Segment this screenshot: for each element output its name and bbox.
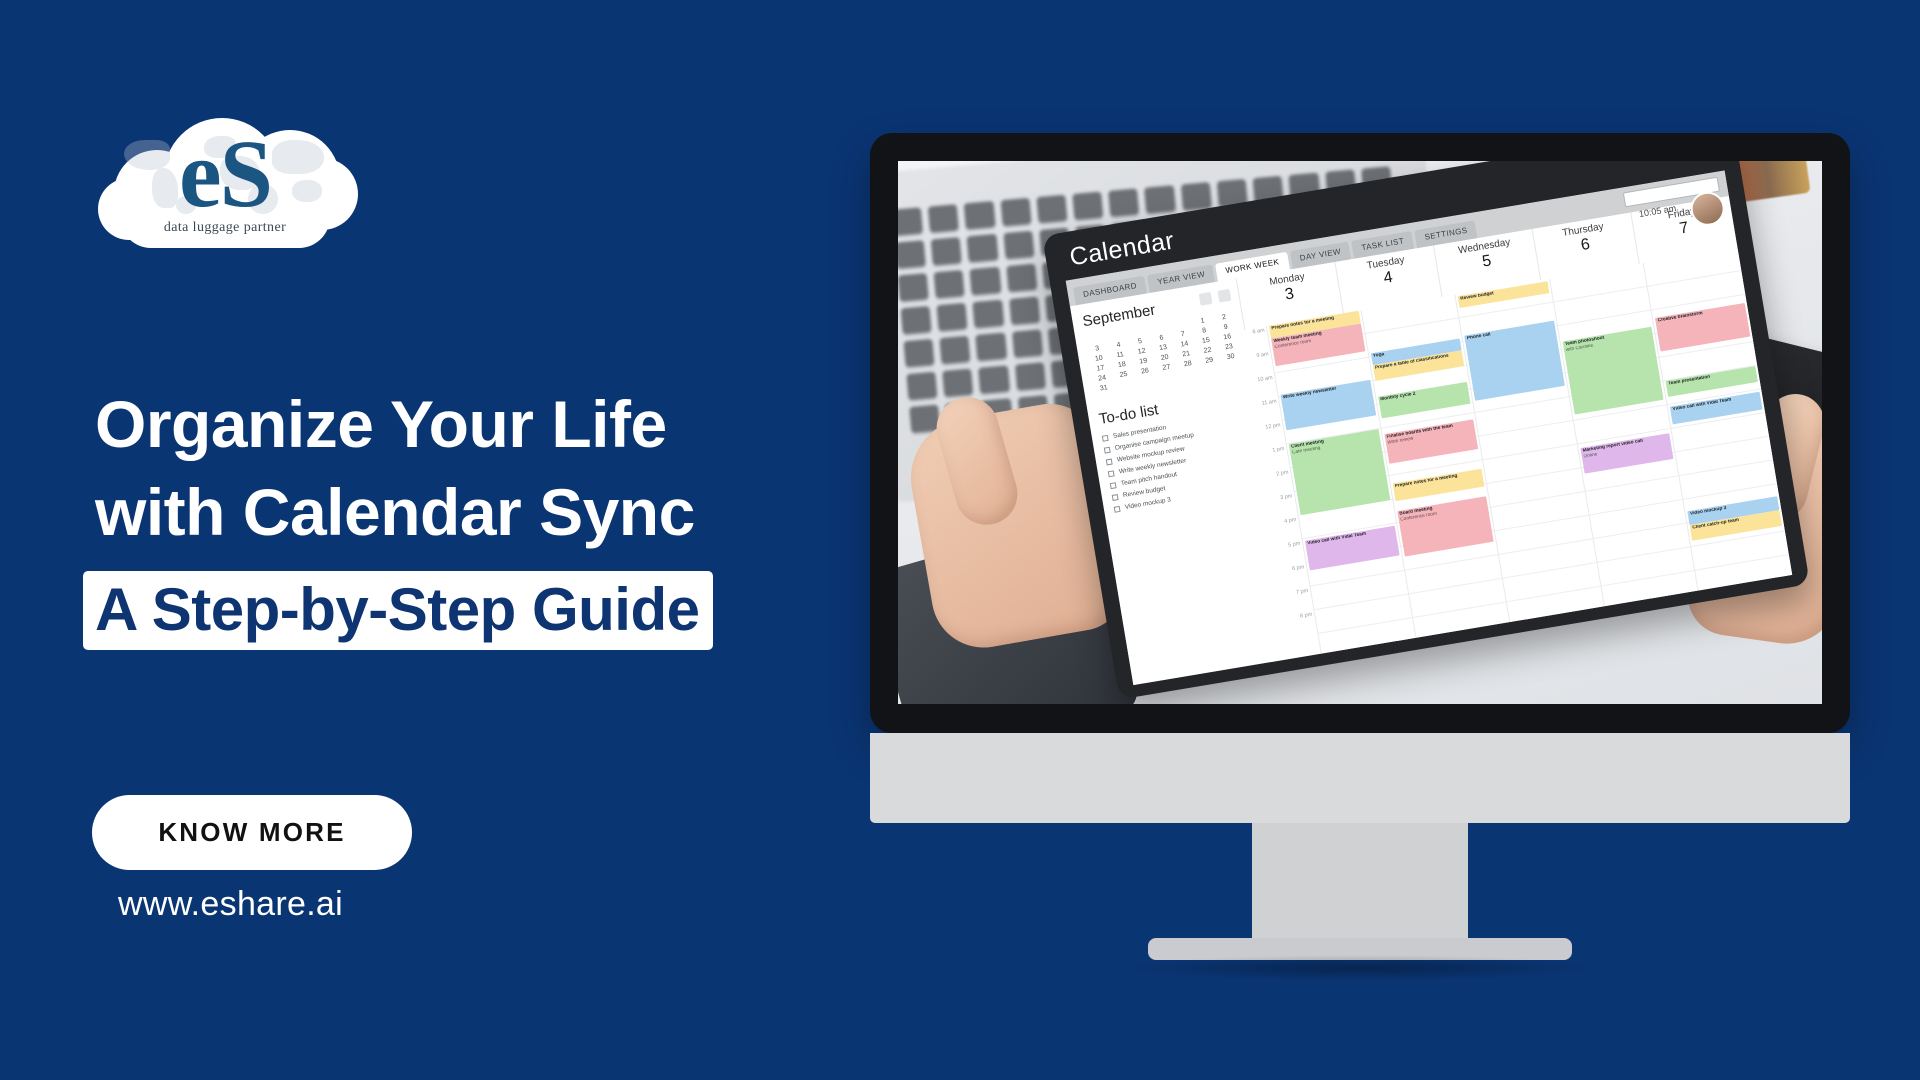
monitor-shadow: [1120, 955, 1600, 981]
mini-calendar-day[interactable]: 2: [1214, 312, 1235, 322]
mini-calendar-day: [1115, 380, 1136, 390]
headline-line-1: Organize Your Life: [95, 380, 815, 468]
desktop-monitor: Calendar DASHBOARDYEAR VIEWWORK WEEKDAY …: [870, 133, 1850, 923]
mini-calendar-day[interactable]: 30: [1220, 352, 1241, 362]
keyboard-key: [978, 365, 1009, 393]
know-more-button[interactable]: KNOW MORE: [92, 795, 412, 870]
todo-list[interactable]: Sales presentationOrganise campaign meet…: [1102, 410, 1263, 513]
keyboard-key: [976, 332, 1007, 360]
keyboard-key: [967, 234, 998, 262]
todo-label: Video mockup 3: [1124, 496, 1171, 511]
mini-calendar-day[interactable]: 1: [1192, 316, 1213, 326]
event-title: Team presentation: [1668, 367, 1754, 387]
todo-checkbox[interactable]: [1102, 434, 1109, 441]
keyboard-key: [1003, 231, 1034, 259]
mini-calendar-day[interactable]: 17: [1090, 364, 1111, 374]
mini-calendar-day[interactable]: 31: [1094, 383, 1115, 393]
todo-label: Review budget: [1122, 485, 1166, 499]
calendar-event[interactable]: Write weekly newsletter: [1280, 380, 1375, 430]
todo-checkbox[interactable]: [1104, 446, 1111, 453]
headline-highlight-text: A Step-by-Step Guide: [95, 579, 699, 640]
mini-calendar-month: September: [1081, 301, 1156, 330]
mini-calendar-day[interactable]: 14: [1174, 339, 1195, 349]
keyboard-key: [934, 270, 965, 298]
calendar-event[interactable]: Finalise boards with the teamWork review: [1384, 419, 1478, 464]
calendar-event[interactable]: Video call with Vidal Team: [1305, 526, 1399, 571]
keyboard-key: [1012, 329, 1043, 357]
mini-calendar-day[interactable]: 25: [1113, 370, 1134, 380]
mini-calendar-day[interactable]: 21: [1176, 349, 1197, 359]
keyboard-key: [939, 336, 970, 364]
keyboard-key: [1108, 188, 1139, 216]
event-title: Creative brainstorm: [1657, 304, 1743, 324]
keyboard-key: [903, 339, 934, 367]
mini-calendar-day[interactable]: 4: [1108, 340, 1129, 350]
mini-calendar-day[interactable]: 27: [1156, 363, 1177, 373]
mini-calendar-day[interactable]: 24: [1092, 373, 1113, 383]
mini-calendar-day[interactable]: 3: [1087, 344, 1108, 354]
event-title: Video call with Vidal Team: [1307, 527, 1393, 547]
mini-calendar-day[interactable]: 9: [1215, 322, 1236, 332]
mini-calendar-day[interactable]: 6: [1151, 333, 1172, 343]
mini-calendar-day: [1179, 369, 1200, 379]
keyboard-key: [906, 372, 937, 400]
keyboard-key: [942, 368, 973, 396]
keyboard-key: [1181, 182, 1212, 210]
mini-calendar-day[interactable]: 28: [1178, 359, 1199, 369]
mini-calendar-day[interactable]: 8: [1194, 326, 1215, 336]
mini-calendar-day[interactable]: 15: [1196, 336, 1217, 346]
mini-calendar-day[interactable]: 12: [1131, 347, 1152, 357]
event-title: Video call with Vidal Team: [1672, 393, 1758, 413]
mini-calendar-day: [1158, 373, 1179, 383]
mini-calendar-day: [1171, 320, 1192, 330]
calendar-event[interactable]: Marketing report video callOnline: [1580, 433, 1674, 474]
brand-logo: eS data luggage partner: [90, 108, 360, 263]
calendar-event[interactable]: Team photoshootwith Caroline: [1562, 327, 1664, 415]
keyboard-key: [1036, 195, 1067, 223]
calendar-week-grid: Monday3Tuesday4Wednesday5Thursday6Friday…: [1236, 196, 1793, 657]
mini-calendar-day: [1222, 362, 1243, 372]
promo-banner: eS data luggage partner Organize Your Li…: [0, 0, 1920, 1080]
todo-checkbox[interactable]: [1112, 494, 1119, 501]
logo-wordmark: eS: [90, 124, 360, 225]
keyboard-key: [928, 204, 959, 232]
keyboard-key: [901, 306, 932, 334]
keyboard-key: [973, 300, 1004, 328]
monitor-chin: [870, 733, 1850, 823]
calendar-event[interactable]: Phone call: [1464, 321, 1564, 401]
logo-tagline: data luggage partner: [90, 220, 360, 236]
todo-checkbox[interactable]: [1106, 458, 1113, 465]
mini-calendar-day[interactable]: 26: [1135, 366, 1156, 376]
mini-calendar-day[interactable]: 19: [1133, 356, 1154, 366]
mini-calendar-day[interactable]: 10: [1089, 354, 1110, 364]
mini-calendar-day[interactable]: 20: [1155, 353, 1176, 363]
mini-calendar-day[interactable]: 5: [1130, 337, 1151, 347]
headline-highlight-box: A Step-by-Step Guide: [83, 571, 713, 650]
keyboard-key: [1015, 362, 1046, 390]
keyboard-key: [931, 237, 962, 265]
keyboard-key: [1072, 191, 1103, 219]
calendar-event[interactable]: Creative brainstorm: [1655, 303, 1750, 351]
chevron-left-icon[interactable]: [1198, 292, 1212, 306]
chevron-right-icon[interactable]: [1217, 289, 1231, 303]
mini-calendar-day[interactable]: 23: [1219, 342, 1240, 352]
mini-calendar-day[interactable]: 13: [1153, 343, 1174, 353]
keyboard-key: [898, 207, 923, 235]
mini-calendar-day: [1150, 323, 1171, 333]
event-title: Phone call: [1467, 322, 1553, 342]
todo-checkbox[interactable]: [1110, 482, 1117, 489]
calendar-event[interactable]: Monthly cycle 2: [1378, 382, 1471, 419]
device-photo: Calendar DASHBOARDYEAR VIEWWORK WEEKDAY …: [898, 161, 1822, 704]
mini-calendar-day: [1107, 330, 1128, 340]
know-more-label: KNOW MORE: [158, 817, 345, 848]
event-title: Write weekly newsletter: [1283, 381, 1369, 401]
mini-calendar-day[interactable]: 16: [1217, 332, 1238, 342]
calendar-event[interactable]: Team presentation: [1666, 366, 1758, 397]
mini-calendar-day[interactable]: 18: [1112, 360, 1133, 370]
calendar-event[interactable]: Video call with Vidal Team: [1670, 392, 1762, 425]
keyboard-key: [1000, 198, 1031, 226]
mini-calendar-day[interactable]: 29: [1199, 356, 1220, 366]
headline-line-2: with Calendar Sync: [95, 468, 815, 556]
keyboard-key: [964, 201, 995, 229]
mini-calendar-day: [1136, 376, 1157, 386]
calendar-event[interactable]: Client meetingCafe meeting: [1289, 429, 1390, 515]
mini-calendar-day: [1201, 365, 1222, 375]
monitor-stand-column: [1252, 823, 1468, 943]
event-title: Prepare notes for a meeting: [1394, 470, 1480, 490]
mini-calendar-day[interactable]: 22: [1197, 346, 1218, 356]
calendar-event[interactable]: Prepare notes for a meeting: [1392, 469, 1484, 502]
mini-calendar-day[interactable]: 7: [1173, 330, 1194, 340]
keyboard-key: [1006, 264, 1037, 292]
mini-calendar-day: [1128, 327, 1149, 337]
keyboard-key: [937, 303, 968, 331]
mini-calendar-day: [1085, 334, 1106, 344]
keyboard-key: [898, 240, 926, 268]
monitor-bezel: Calendar DASHBOARDYEAR VIEWWORK WEEKDAY …: [870, 133, 1850, 733]
keyboard-key: [1144, 185, 1175, 213]
event-title: Monthly cycle 2: [1380, 383, 1466, 403]
mini-calendar-nav[interactable]: [1195, 288, 1232, 311]
todo-checkbox[interactable]: [1108, 470, 1115, 477]
mini-calendar-day[interactable]: 11: [1110, 350, 1131, 360]
monitor-screen: Calendar DASHBOARDYEAR VIEWWORK WEEKDAY …: [898, 161, 1822, 704]
todo-checkbox[interactable]: [1114, 505, 1121, 512]
keyboard-key: [898, 273, 929, 301]
website-url[interactable]: www.eshare.ai: [118, 885, 343, 924]
keyboard-key: [970, 267, 1001, 295]
keyboard-key: [1009, 296, 1040, 324]
calendar-event[interactable]: Board meetingConference room: [1397, 496, 1494, 556]
headline-block: Organize Your Life with Calendar Sync A …: [95, 380, 815, 650]
left-content-panel: eS data luggage partner Organize Your Li…: [0, 0, 860, 1080]
